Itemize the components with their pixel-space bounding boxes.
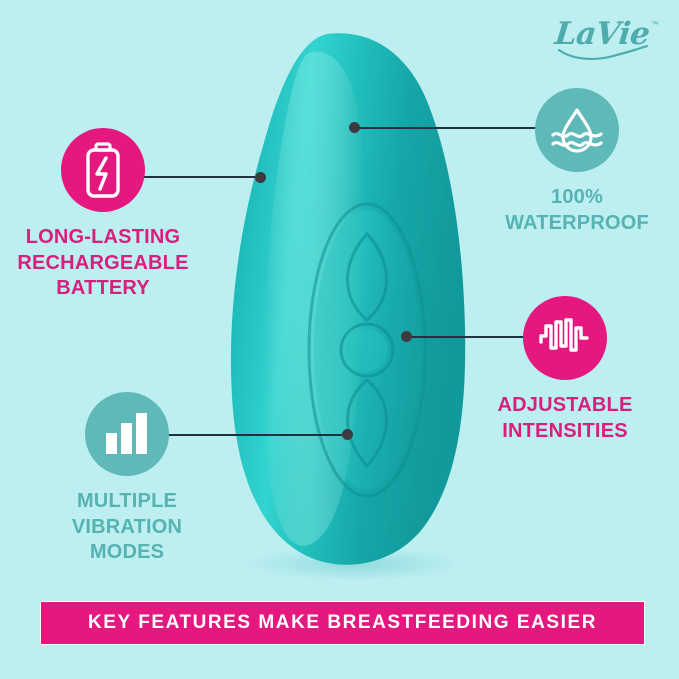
sound-wave-icon [537, 316, 593, 360]
connector-dot-vibration [342, 429, 353, 440]
brand-logo-swash-icon [555, 44, 651, 62]
feature-intensities[interactable]: ADJUSTABLE INTENSITIES [460, 296, 670, 444]
trademark-symbol: ™ [651, 20, 659, 29]
water-drop-waves-icon [549, 104, 605, 156]
key-features-banner-text: KEY FEATURES MAKE BREASTFEEDING EASIER [88, 612, 597, 634]
connector-dot-intensities [401, 331, 412, 342]
product-device-image [215, 28, 485, 583]
feature-vibration-label: MULTIPLE VIBRATION MODES [22, 489, 232, 566]
connector-dot-battery [255, 172, 266, 183]
feature-battery[interactable]: LONG-LASTING RECHARGEABLE BATTERY [0, 128, 208, 302]
feature-battery-label: LONG-LASTING RECHARGEABLE BATTERY [0, 225, 208, 302]
infographic-page: LaVie ™ [0, 0, 679, 679]
battery-charging-icon [81, 141, 125, 199]
feature-vibration-badge [85, 392, 169, 476]
feature-waterproof-label: 100% WATERPROOF [472, 185, 679, 236]
feature-battery-badge [61, 128, 145, 212]
feature-intensities-label: ADJUSTABLE INTENSITIES [460, 393, 670, 444]
key-features-banner: KEY FEATURES MAKE BREASTFEEDING EASIER [37, 598, 648, 648]
power-button[interactable] [346, 329, 388, 371]
feature-vibration[interactable]: MULTIPLE VIBRATION MODES [22, 392, 232, 566]
connector-dot-waterproof [349, 122, 360, 133]
bar-levels-icon [103, 411, 151, 457]
feature-waterproof-badge [535, 88, 619, 172]
feature-intensities-badge [523, 296, 607, 380]
feature-waterproof[interactable]: 100% WATERPROOF [472, 88, 679, 236]
brand-logo: LaVie ™ [539, 14, 659, 66]
